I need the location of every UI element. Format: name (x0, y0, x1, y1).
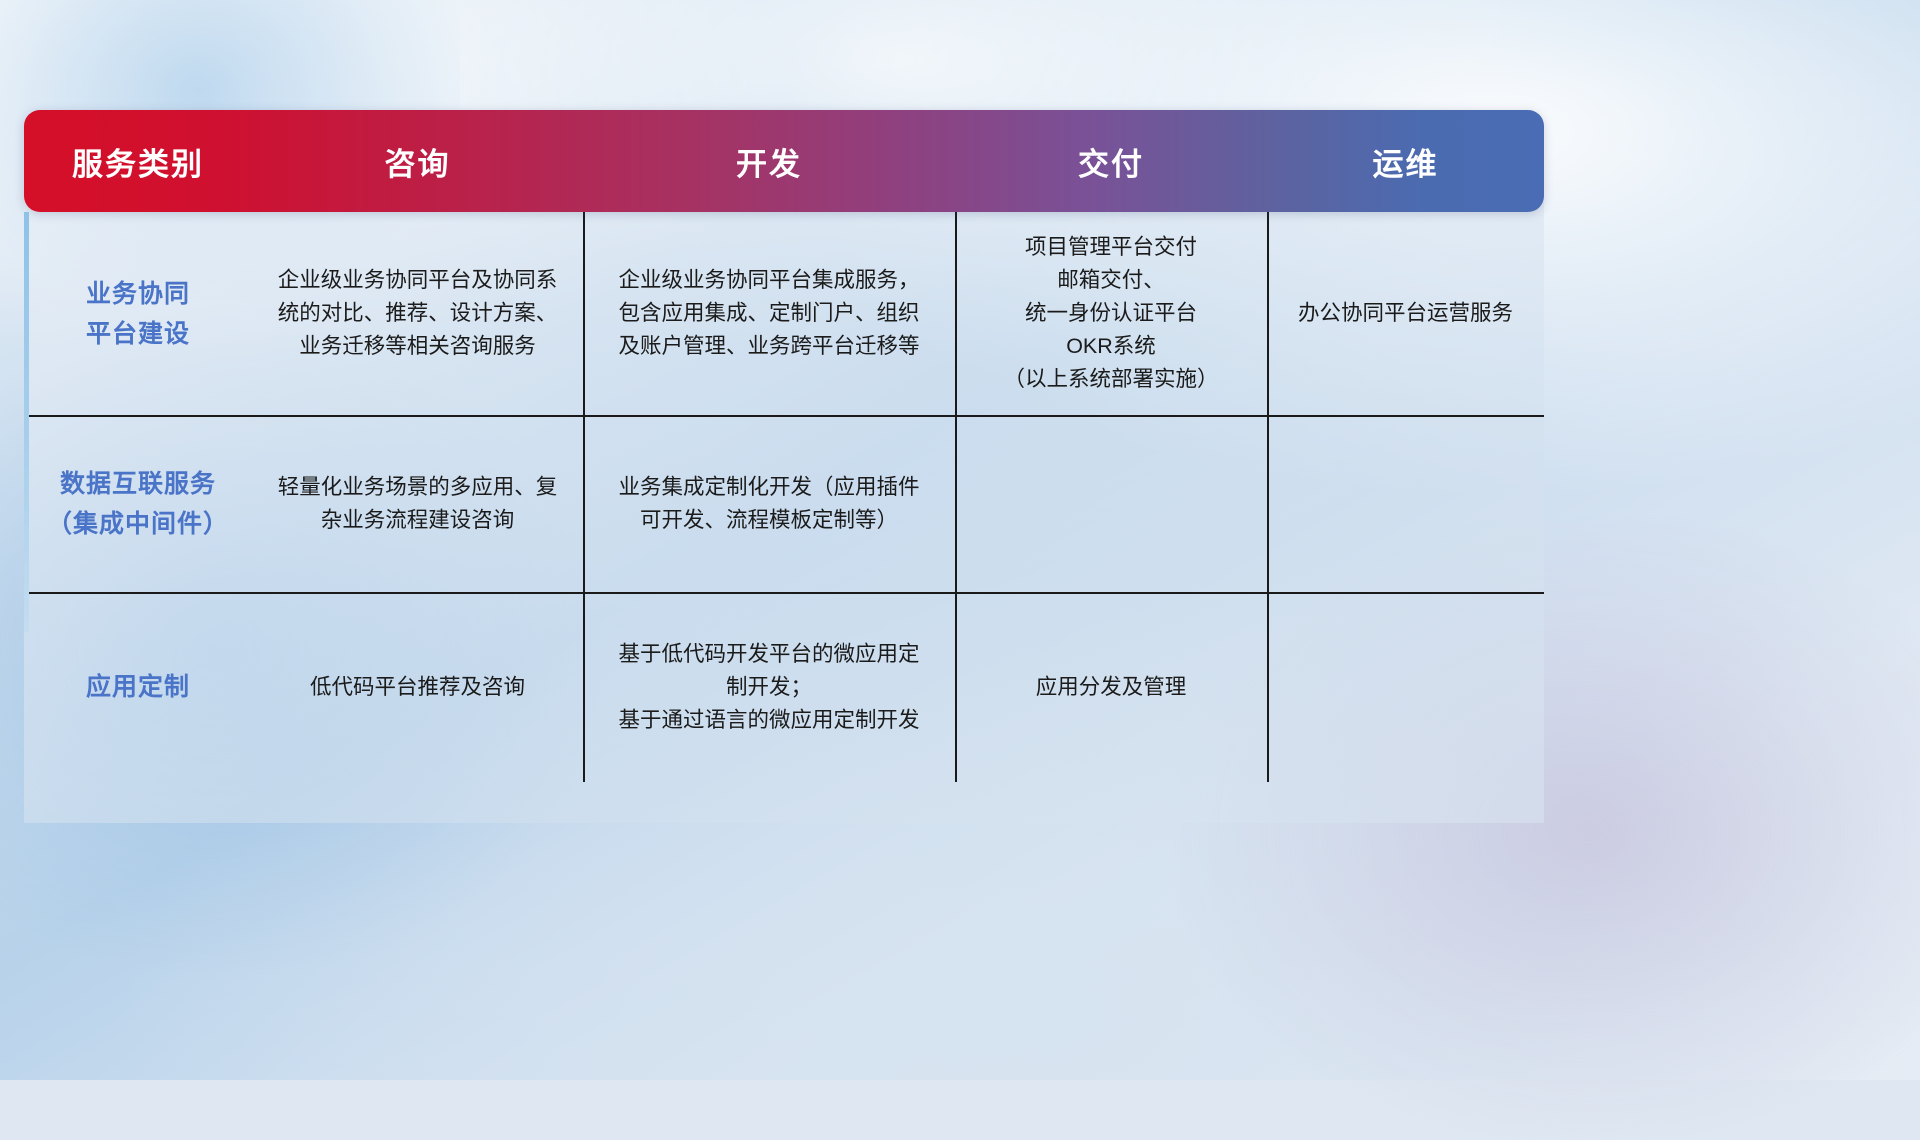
cell-r3-consulting: 低代码平台推荐及咨询 (252, 592, 583, 782)
header-cell-consulting: 咨询 (252, 139, 583, 184)
cell-r1-delivery: 项目管理平台交付 邮箱交付、 统一身份认证平台 OKR系统 （以上系统部署实施） (955, 212, 1267, 415)
cell-r2-operations (1267, 415, 1544, 592)
row-divider-2 (24, 592, 1544, 594)
cell-r1-development: 企业级业务协同平台集成服务， 包含应用集成、定制门户、组织 及账户管理、业务跨平… (583, 212, 955, 415)
table-header-row: 服务类别 咨询 开发 交付 运维 (24, 110, 1544, 212)
header-cell-delivery: 交付 (955, 139, 1267, 184)
col-divider-consulting-development (583, 212, 585, 782)
row-label-app-customization: 应用定制 (24, 592, 252, 782)
table-grid: 业务协同 平台建设 企业级业务协同平台及协同系 统的对比、推荐、设计方案、 业务… (24, 212, 1544, 782)
row-divider-1 (24, 415, 1544, 417)
cell-r3-delivery: 应用分发及管理 (955, 592, 1267, 782)
row-label-business-collaboration: 业务协同 平台建设 (24, 212, 252, 415)
cell-r3-development: 基于低代码开发平台的微应用定 制开发； 基于通过语言的微应用定制开发 (583, 592, 955, 782)
cell-r1-consulting: 企业级业务协同平台及协同系 统的对比、推荐、设计方案、 业务迁移等相关咨询服务 (252, 212, 583, 415)
row-label-data-interconnect: 数据互联服务 （集成中间件） (24, 415, 252, 592)
header-cell-operations: 运维 (1267, 139, 1544, 184)
cell-r2-development: 业务集成定制化开发（应用插件 可开发、流程模板定制等） (583, 415, 955, 592)
header-cell-development: 开发 (583, 139, 955, 184)
table-left-accent-bar (24, 212, 29, 632)
service-matrix-table: 服务类别 咨询 开发 交付 运维 业务协同 平台建设 企业级业务协同平台及协同系… (24, 110, 1544, 782)
cell-r1-operations: 办公协同平台运营服务 (1267, 212, 1544, 415)
cell-r2-consulting: 轻量化业务场景的多应用、复 杂业务流程建设咨询 (252, 415, 583, 592)
col-divider-delivery-operations (1267, 212, 1269, 782)
header-cell-category: 服务类别 (24, 139, 252, 184)
cell-r2-delivery (955, 415, 1267, 592)
cell-r3-operations (1267, 592, 1544, 782)
col-divider-development-delivery (955, 212, 957, 782)
